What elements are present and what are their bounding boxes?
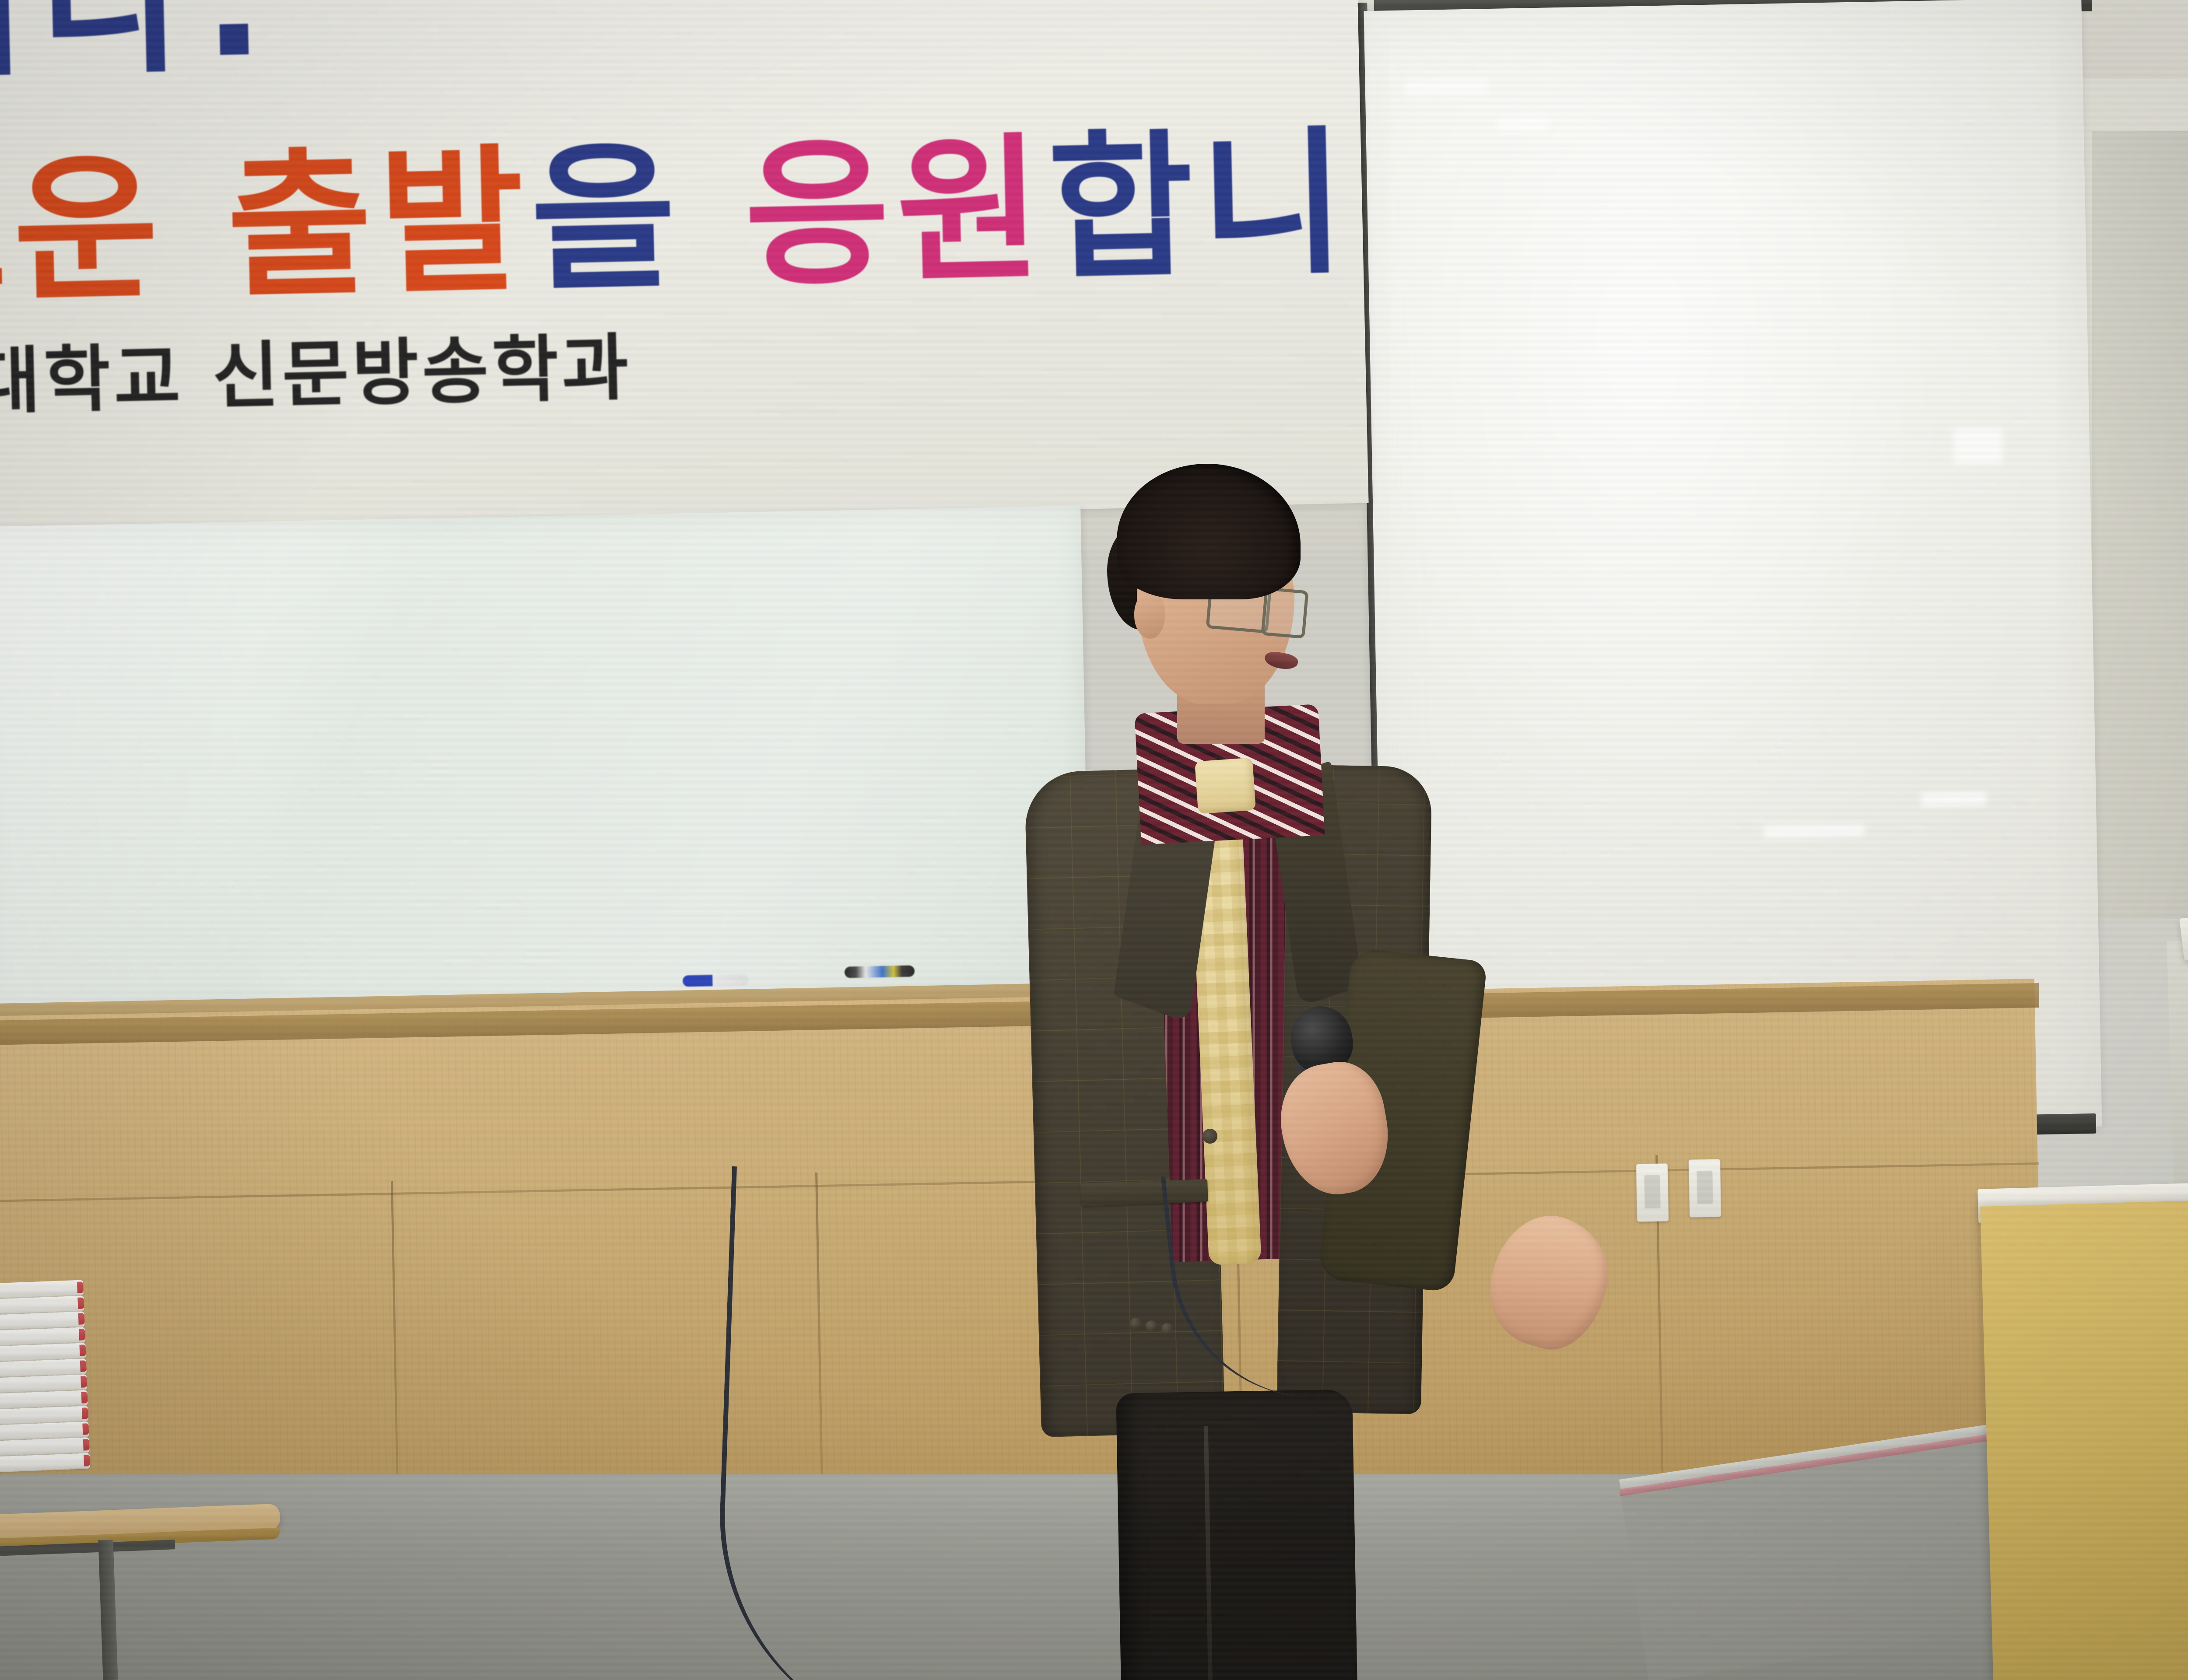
banner-seg-3: 응원 (743, 118, 1050, 308)
shelf-back-panel (2167, 931, 2188, 1212)
lectern-desk (1980, 1191, 2188, 1680)
presenter (1020, 464, 1588, 1680)
ear (1134, 591, 1165, 639)
blazer-button (1203, 1129, 1217, 1144)
blue-marker-icon (683, 974, 748, 987)
projected-mark (1404, 79, 1488, 95)
congratulatory-banner: 니다. 로운 출발을 응원합니 구대학교 신문방송학과 (0, 0, 1369, 534)
projected-mark (1953, 428, 2002, 464)
book-stack[interactable] (0, 1280, 96, 1516)
projected-mark (1497, 117, 1550, 131)
wall-column (2092, 131, 2188, 919)
whiteboard-glare (0, 506, 1090, 1012)
banner-seg-2: 을 (529, 124, 747, 312)
photo-scene: 니다. 로운 출발을 응원합니 구대학교 신문방송학과 (0, 0, 2188, 1680)
wall-switch-plate[interactable] (1636, 1163, 1669, 1221)
banner-seg-1: 출발 (225, 129, 533, 319)
multi-markers-icon (845, 965, 915, 978)
projected-mark (1764, 825, 1865, 838)
banner-seg-0: 로운 (0, 136, 229, 327)
hair (1117, 464, 1301, 599)
wall-switch-plate[interactable] (1689, 1159, 1721, 1217)
eyeglasses-lens-right (1261, 587, 1308, 639)
cuff-button (1161, 1323, 1173, 1334)
trousers (1116, 1389, 1361, 1680)
necktie-knot (1195, 758, 1256, 814)
whiteboard (0, 506, 1090, 1017)
projected-mark (1921, 791, 1987, 807)
banner-headline: 로운 출발을 응원합니 (0, 74, 1354, 335)
banner-line-partial: 니다. (0, 0, 279, 109)
book-item (0, 1453, 90, 1473)
banner-seg-4: 합니 (1046, 111, 1354, 301)
cuff-button (1130, 1318, 1141, 1329)
banner-department-line: 구대학교 신문방송학과 (0, 309, 633, 429)
cuff-button (1146, 1320, 1157, 1332)
